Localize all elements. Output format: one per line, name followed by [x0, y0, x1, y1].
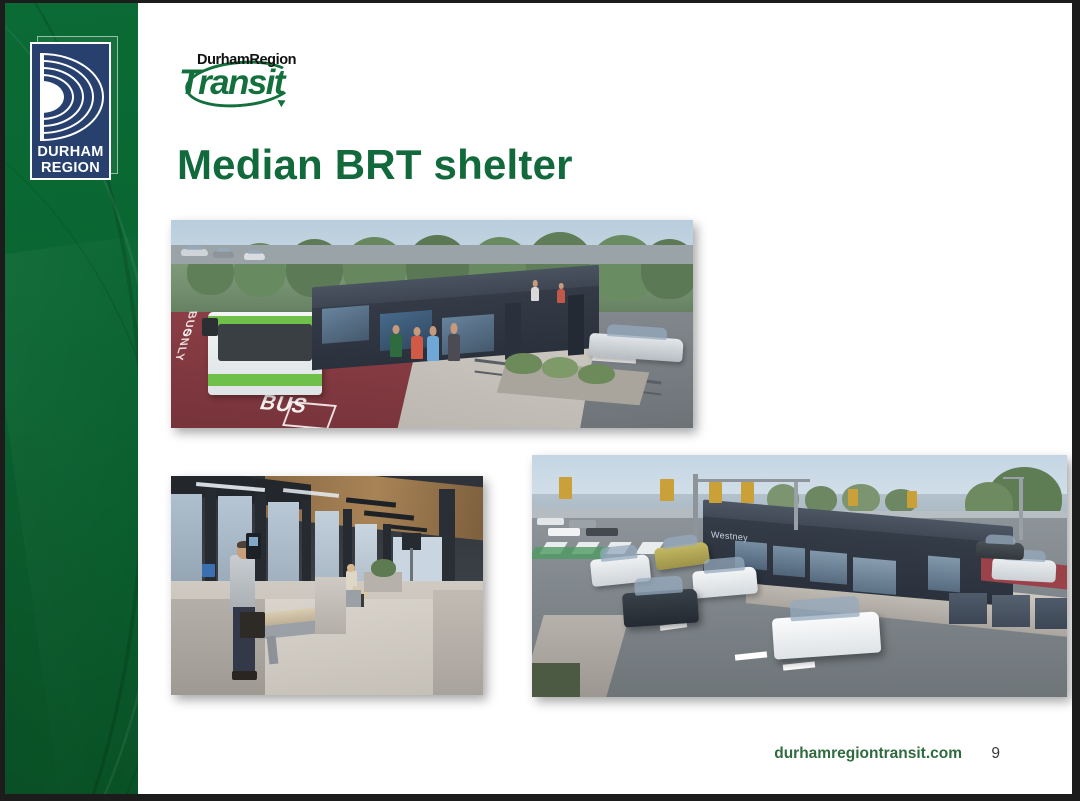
- sidebar-shadow-wedge: [5, 433, 138, 794]
- durham-region-logo-card: DURHAM REGION: [30, 42, 111, 180]
- durham-region-logo: DURHAM REGION: [30, 36, 118, 180]
- durham-region-logo-line-1: DURHAM: [32, 144, 109, 160]
- vehicle: [992, 557, 1057, 582]
- slide-page-number: 9: [991, 745, 1000, 763]
- durham-region-logo-wordmark: DURHAM REGION: [32, 144, 109, 176]
- vehicle: [691, 566, 757, 598]
- vehicle: [771, 611, 881, 659]
- durham-region-logo-line-2: REGION: [32, 160, 109, 176]
- page-title: Median BRT shelter: [177, 141, 573, 189]
- d-stem: [40, 53, 44, 141]
- image-westney-station-street-view: Westney: [532, 455, 1067, 697]
- presentation-slide: DURHAM REGION DurhamRegion Transit Media…: [5, 3, 1072, 794]
- vehicle: [622, 588, 699, 627]
- image-shelter-interior: [171, 476, 483, 695]
- vehicle: [976, 541, 1025, 560]
- footer-website-link[interactable]: durhamregiontransit.com: [774, 745, 962, 763]
- durham-region-d-mark: [40, 53, 106, 141]
- transit-logo-main-text: Transit: [179, 63, 284, 103]
- durham-region-transit-logo: DurhamRegion Transit: [175, 51, 300, 113]
- image-median-brt-shelter-aerial: ONLY BUS BUS ONLY: [171, 220, 693, 428]
